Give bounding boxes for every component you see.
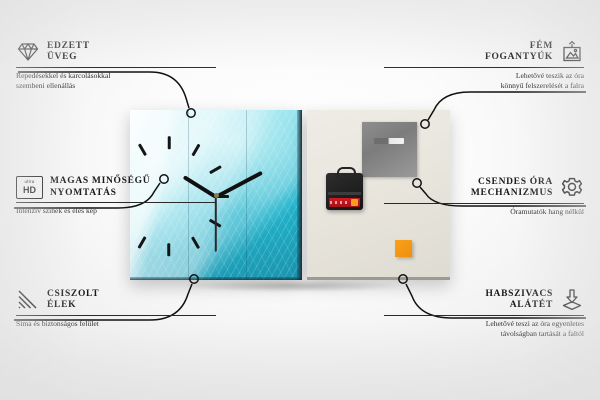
- mechanism-band: [328, 192, 361, 195]
- minute-hand: [215, 171, 263, 199]
- hour-mark-7: [138, 236, 147, 249]
- battery-terminal: [351, 199, 358, 206]
- callout-description: Intenzív színek és éles kép: [16, 206, 216, 216]
- callout-title: EDZETT ÜVEG: [47, 41, 90, 64]
- clock-mechanism: [326, 173, 363, 210]
- callout-description: Lehetővé teszik az óra könnyű felszerelé…: [384, 71, 584, 90]
- ultra-hd-icon: ultra HD: [16, 176, 43, 199]
- hour-mark-2: [209, 165, 222, 174]
- glass-edge-bottom: [130, 277, 302, 280]
- callout-title: FÉM FOGANTYÚK: [485, 41, 553, 64]
- callout-title: CSENDES ÓRA MECHANIZMUS: [471, 177, 553, 200]
- ultra-hd-main-label: HD: [23, 186, 36, 195]
- callout-description: Óramutatók hang nélkül: [384, 207, 584, 217]
- callout-description: Repedésekkel és karcolásokkal szembeni e…: [16, 71, 216, 90]
- foam-pad-icon: [560, 288, 584, 312]
- callout-high-quality-print: ultra HD MAGAS MINŐSÉGŰ NYOMTATÁS Intenz…: [16, 176, 216, 216]
- callout-divider: [16, 315, 216, 316]
- product-infographic: EDZETT ÜVEG Repedésekkel és karcolásokka…: [0, 0, 600, 400]
- hanger-slot: [374, 138, 404, 144]
- callout-polished-edges: CSISZOLT ÉLEK Sima és biztonságos felüle…: [16, 288, 216, 329]
- callout-metal-handles: FÉM FOGANTYÚK Lehetővé teszik az óra kön…: [384, 40, 584, 90]
- callout-title: HABSZIVACS ALÁTÉT: [485, 289, 553, 312]
- callout-divider: [384, 67, 584, 68]
- callout-description: Sima és biztonságos felület: [16, 319, 216, 329]
- foam-pad-sample: [395, 240, 412, 257]
- callout-foam-pad: HABSZIVACS ALÁTÉT Lehetővé teszi az óra …: [384, 288, 584, 338]
- hour-mark-6: [168, 243, 171, 256]
- hour-mark-1: [191, 144, 200, 157]
- hour-mark-11: [138, 144, 147, 157]
- callout-tempered-glass: EDZETT ÜVEG Repedésekkel és karcolásokka…: [16, 40, 216, 90]
- callout-description: Lehetővé teszi az óra egyenletes távolsá…: [384, 319, 584, 338]
- diamond-icon: [16, 40, 40, 64]
- hour-mark-12: [168, 136, 171, 149]
- hour-mark-5: [191, 236, 200, 249]
- polished-edge-icon: [16, 288, 40, 312]
- callout-divider: [16, 67, 216, 68]
- callout-divider: [384, 203, 584, 204]
- callout-title: CSISZOLT ÉLEK: [47, 289, 99, 312]
- callout-silent-mechanism: CSENDES ÓRA MECHANIZMUS Óramutatók hang …: [384, 176, 584, 217]
- gear-icon: [560, 176, 584, 200]
- callout-divider: [16, 202, 216, 203]
- callout-title: MAGAS MINŐSÉGŰ NYOMTATÁS: [50, 176, 150, 199]
- callout-divider: [384, 315, 584, 316]
- glass-edge-right: [297, 110, 302, 280]
- mechanism-loop: [337, 167, 356, 178]
- connector-metal-handles: [428, 92, 586, 120]
- back-edge-bottom: [307, 277, 450, 280]
- wall-hanger-icon: [560, 40, 584, 64]
- battery: [329, 198, 360, 207]
- metal-hanger: [362, 122, 417, 177]
